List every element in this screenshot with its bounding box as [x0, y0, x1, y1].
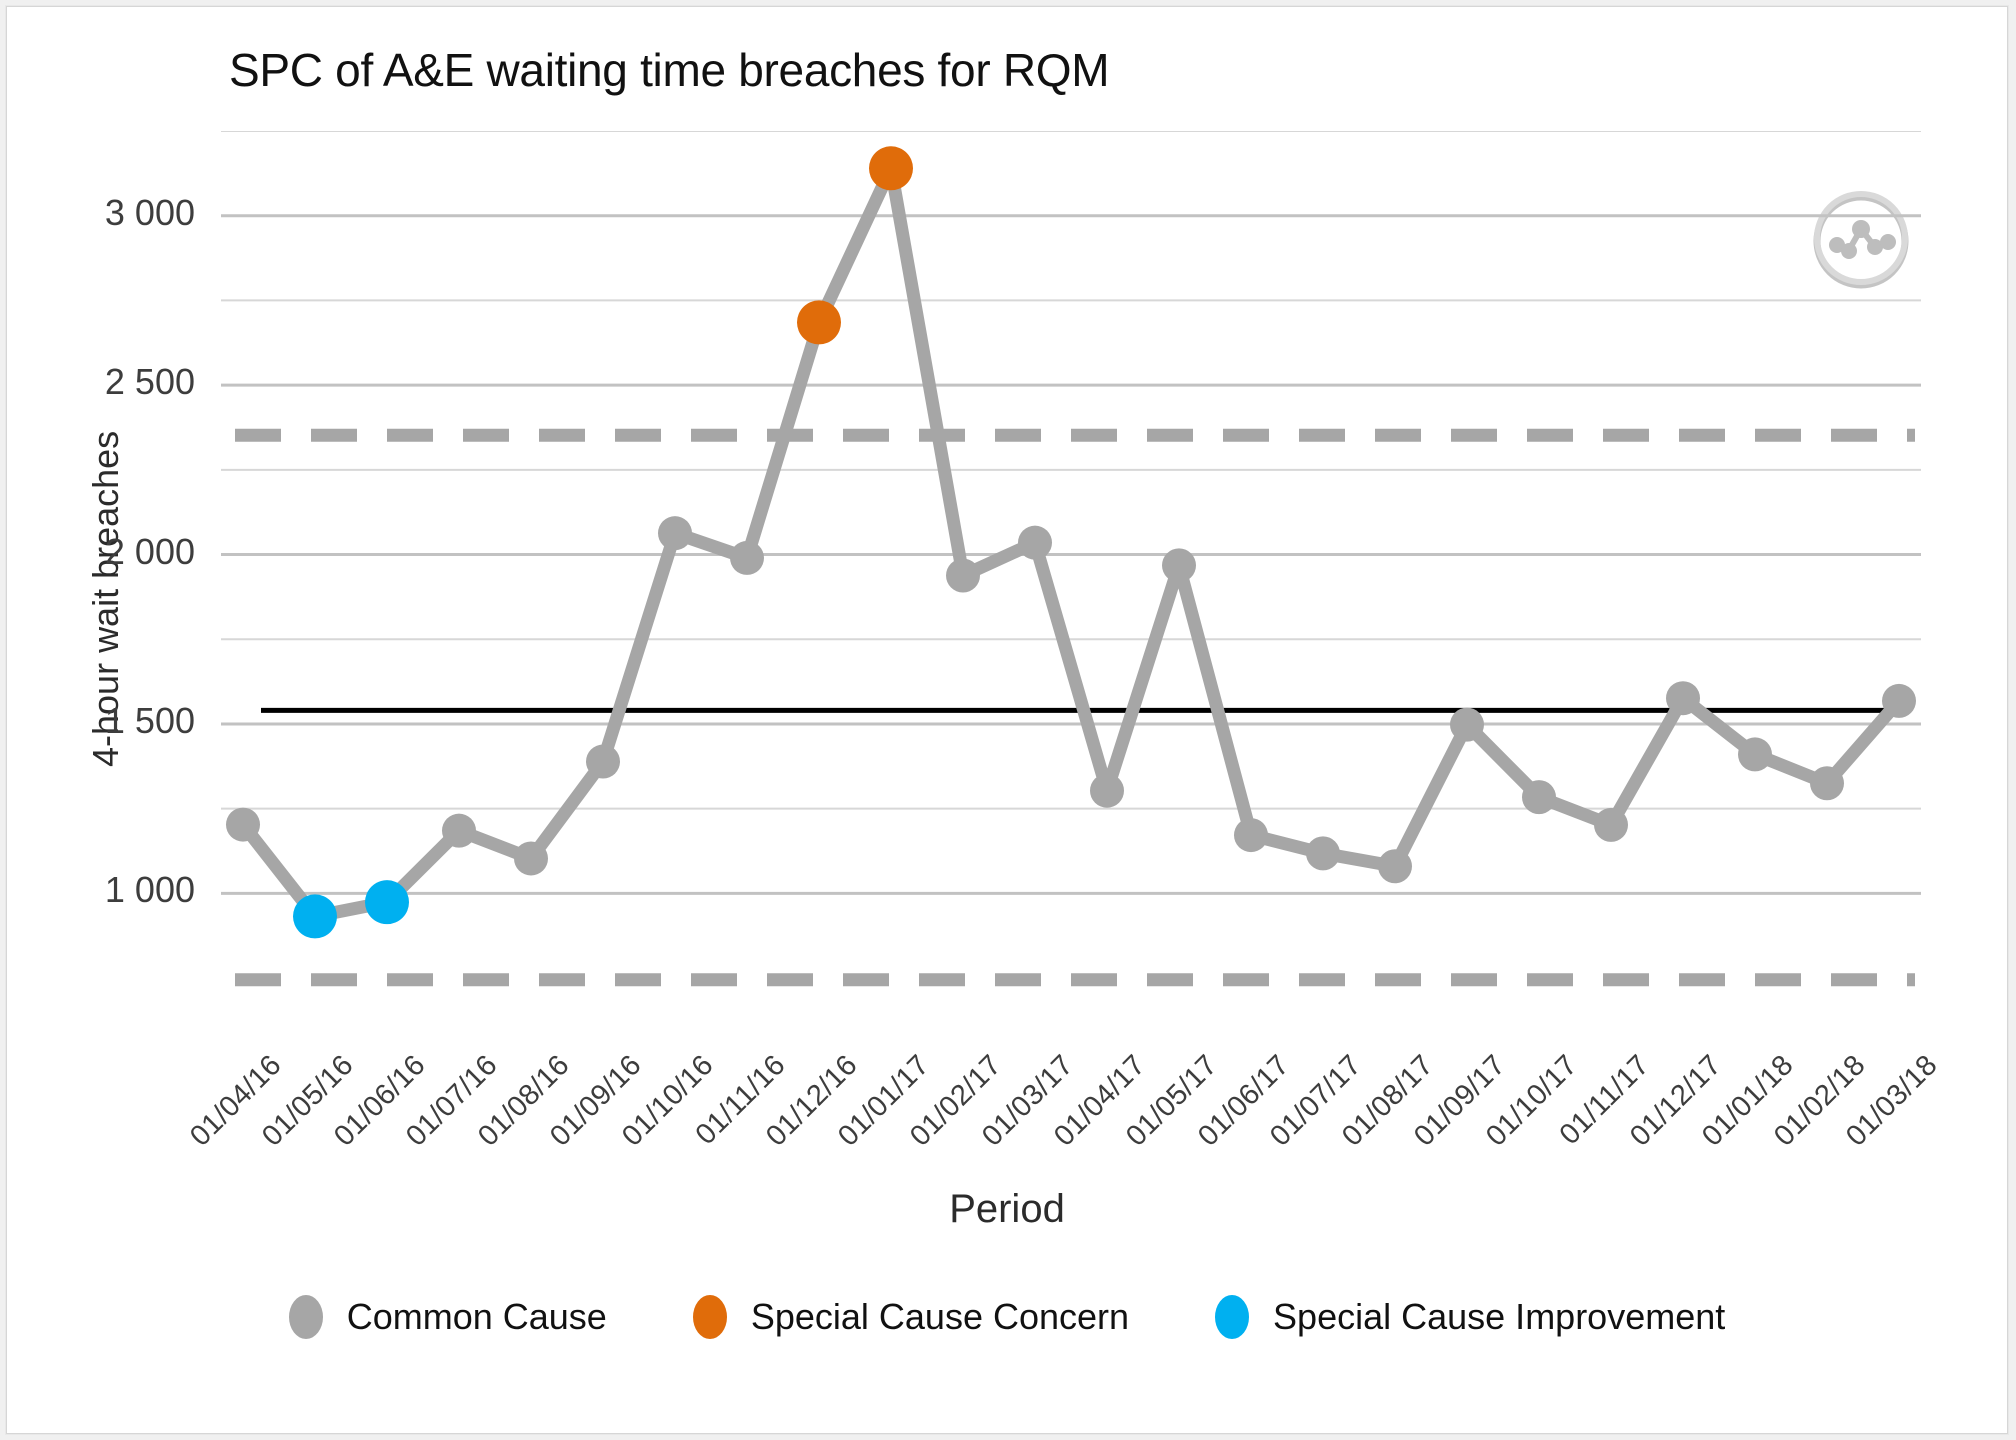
x-axis-label: Period: [7, 1187, 2007, 1232]
legend-item-special-cause-concern[interactable]: Special Cause Concern: [693, 1295, 1129, 1339]
data-point-01-12-16[interactable]: [797, 300, 841, 344]
data-point-01-12-17[interactable]: [1666, 681, 1700, 715]
data-point-01-01-17[interactable]: [869, 146, 913, 190]
data-point-01-08-17[interactable]: [1378, 849, 1412, 883]
data-point-01-02-18[interactable]: [1810, 766, 1844, 800]
y-axis-tick-label: 1 500: [45, 700, 195, 742]
y-axis-tick-label: 1 000: [45, 869, 195, 911]
legend-label: Common Cause: [347, 1296, 607, 1338]
x-axis-ticks: 01/04/1601/05/1601/06/1601/07/1601/08/16…: [221, 1003, 1921, 1004]
spc-line-chart: [221, 131, 1921, 995]
data-point-01-04-17[interactable]: [1090, 774, 1124, 808]
data-point-01-08-16[interactable]: [514, 841, 548, 875]
data-point-01-03-17[interactable]: [1018, 526, 1052, 560]
data-point-01-03-18[interactable]: [1882, 684, 1916, 718]
gridlines: [221, 131, 1921, 893]
data-point-01-11-16[interactable]: [730, 541, 764, 575]
data-point-01-07-17[interactable]: [1306, 836, 1340, 870]
chart-legend: Common Cause Special Cause Concern Speci…: [7, 1295, 2007, 1339]
data-point-01-06-17[interactable]: [1234, 818, 1268, 852]
y-axis-tick-label: 2 000: [45, 531, 195, 573]
circle-marker-icon: [693, 1295, 727, 1339]
control-limit-lines: [235, 435, 1915, 979]
circle-marker-icon: [289, 1295, 323, 1339]
page-title: SPC of A&E waiting time breaches for RQM: [229, 43, 1109, 97]
data-point-01-09-17[interactable]: [1450, 708, 1484, 742]
data-point-01-01-18[interactable]: [1738, 737, 1772, 771]
legend-item-common-cause[interactable]: Common Cause: [289, 1295, 607, 1339]
data-point-01-09-16[interactable]: [586, 745, 620, 779]
chart-card: SPC of A&E waiting time breaches for RQM…: [6, 6, 2008, 1434]
legend-label: Special Cause Concern: [751, 1296, 1129, 1338]
data-point-01-06-16[interactable]: [365, 880, 409, 924]
data-point-01-05-17[interactable]: [1162, 548, 1196, 582]
series-line: [243, 168, 1899, 916]
plot-area: [221, 131, 1921, 995]
data-point-01-07-16[interactable]: [442, 814, 476, 848]
series-polyline: [243, 168, 1899, 916]
data-point-01-02-17[interactable]: [946, 559, 980, 593]
legend-item-special-cause-improvement[interactable]: Special Cause Improvement: [1215, 1295, 1725, 1339]
y-axis-tick-label: 2 500: [45, 361, 195, 403]
data-point-01-10-16[interactable]: [658, 516, 692, 550]
data-point-01-10-17[interactable]: [1522, 780, 1556, 814]
y-axis-tick-label: 3 000: [45, 192, 195, 234]
data-point-01-05-16[interactable]: [293, 894, 337, 938]
data-point-01-04-16[interactable]: [226, 808, 260, 842]
series-points: [226, 146, 1916, 938]
data-point-01-11-17[interactable]: [1594, 808, 1628, 842]
circle-marker-icon: [1215, 1295, 1249, 1339]
legend-label: Special Cause Improvement: [1273, 1296, 1725, 1338]
